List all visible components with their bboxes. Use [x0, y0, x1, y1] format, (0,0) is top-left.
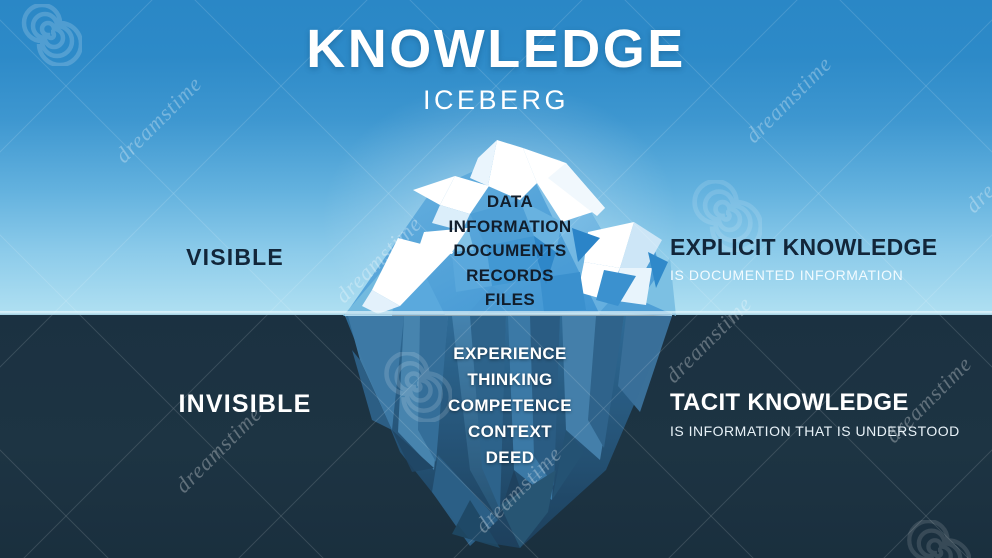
- visible-label: VISIBLE: [120, 244, 350, 271]
- explicit-knowledge-subtitle: IS DOCUMENTED INFORMATION: [670, 267, 937, 283]
- page-title: KNOWLEDGE: [0, 22, 992, 76]
- tacit-knowledge-subtitle: IS INFORMATION THAT IS UNDERSTOOD: [670, 423, 960, 439]
- page-subtitle: ICEBERG: [0, 85, 992, 116]
- waterline-divider: [0, 311, 992, 315]
- invisible-label: INVISIBLE: [110, 390, 380, 419]
- explicit-knowledge-block: EXPLICIT KNOWLEDGE IS DOCUMENTED INFORMA…: [670, 234, 937, 283]
- knowledge-iceberg-infographic: dreamstime dreamstime dreamstime dreamst…: [0, 0, 992, 558]
- tacit-knowledge-title: TACIT KNOWLEDGE: [670, 389, 960, 417]
- tacit-knowledge-block: TACIT KNOWLEDGE IS INFORMATION THAT IS U…: [670, 389, 960, 439]
- explicit-knowledge-title: EXPLICIT KNOWLEDGE: [670, 234, 937, 261]
